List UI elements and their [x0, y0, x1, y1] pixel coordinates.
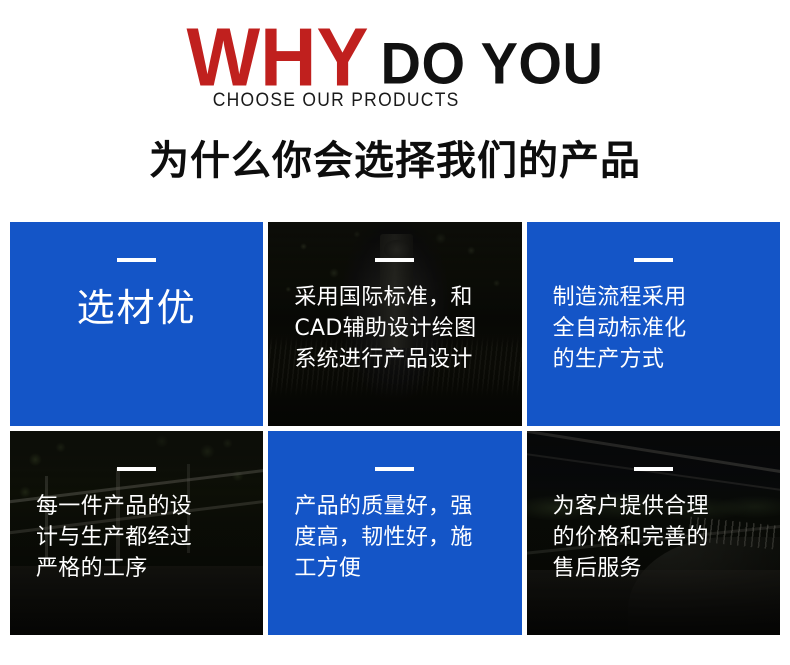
feature-line: 选材优 [20, 282, 253, 336]
divider-rule-icon [634, 467, 673, 471]
feature-card-4-body: 每一件产品的设 计与生产都经过 严格的工序 [10, 431, 263, 635]
feature-line: 系统进行产品设计 [294, 344, 501, 375]
feature-card-5-text: 产品的质量好，强 度高，韧性好，施 工方便 [268, 491, 521, 585]
feature-card-2[interactable]: 采用国际标准，和 CAD辅助设计绘图 系统进行产品设计 [268, 222, 521, 426]
feature-card-3[interactable]: 制造流程采用 全自动标准化 的生产方式 [527, 222, 780, 426]
feature-card-3-body: 制造流程采用 全自动标准化 的生产方式 [527, 222, 780, 426]
divider-rule-icon [117, 258, 156, 262]
feature-line: 工方便 [294, 553, 501, 584]
headline-subtitle-en-wrap: CHOOSE OUR PRODUCTS [0, 90, 790, 112]
headline-why: WHY [187, 17, 369, 96]
feature-line: 全自动标准化 [553, 313, 760, 344]
feature-line: 为客户提供合理 [553, 491, 760, 522]
feature-line: 每一件产品的设 [36, 491, 243, 522]
feature-card-1-body: 选材优 [10, 222, 263, 426]
feature-line: CAD辅助设计绘图 [294, 313, 501, 344]
feature-line: 制造流程采用 [553, 282, 760, 313]
feature-card-4-text: 每一件产品的设 计与生产都经过 严格的工序 [10, 491, 263, 585]
headline-row: WHY DO YOU [0, 16, 790, 96]
feature-card-3-text: 制造流程采用 全自动标准化 的生产方式 [527, 282, 780, 376]
feature-line: 的价格和完善的 [553, 522, 760, 553]
feature-card-5[interactable]: 产品的质量好，强 度高，韧性好，施 工方便 [268, 431, 521, 635]
feature-line: 度高，韧性好，施 [294, 522, 501, 553]
feature-line: 的生产方式 [553, 344, 760, 375]
feature-card-6-text: 为客户提供合理 的价格和完善的 售后服务 [527, 491, 780, 585]
feature-line: 产品的质量好，强 [294, 491, 501, 522]
feature-card-6-body: 为客户提供合理 的价格和完善的 售后服务 [527, 431, 780, 635]
feature-card-6[interactable]: 为客户提供合理 的价格和完善的 售后服务 [527, 431, 780, 635]
headline-subtitle-cn: 为什么你会选择我们的产品 [0, 128, 790, 186]
feature-card-5-body: 产品的质量好，强 度高，韧性好，施 工方便 [268, 431, 521, 635]
feature-line: 售后服务 [553, 553, 760, 584]
feature-card-4[interactable]: 每一件产品的设 计与生产都经过 严格的工序 [10, 431, 263, 635]
feature-line: 计与生产都经过 [36, 522, 243, 553]
feature-line: 严格的工序 [36, 553, 243, 584]
feature-grid: 选材优 采用国际标准，和 CAD辅助设计绘图 系统进行产品设计 制造流程采用 [10, 222, 780, 635]
feature-card-1[interactable]: 选材优 [10, 222, 263, 426]
divider-rule-icon [375, 258, 414, 262]
page-header: WHY DO YOU CHOOSE OUR PRODUCTS 为什么你会选择我们… [0, 0, 790, 222]
feature-card-1-text: 选材优 [10, 282, 263, 336]
feature-card-2-body: 采用国际标准，和 CAD辅助设计绘图 系统进行产品设计 [268, 222, 521, 426]
feature-card-2-text: 采用国际标准，和 CAD辅助设计绘图 系统进行产品设计 [268, 282, 521, 376]
headline-do-you: DO YOU [381, 35, 604, 96]
feature-line: 采用国际标准，和 [294, 282, 501, 313]
divider-rule-icon [375, 467, 414, 471]
headline-subtitle-en: CHOOSE OUR PRODUCTS [213, 90, 460, 112]
divider-rule-icon [634, 258, 673, 262]
divider-rule-icon [117, 467, 156, 471]
